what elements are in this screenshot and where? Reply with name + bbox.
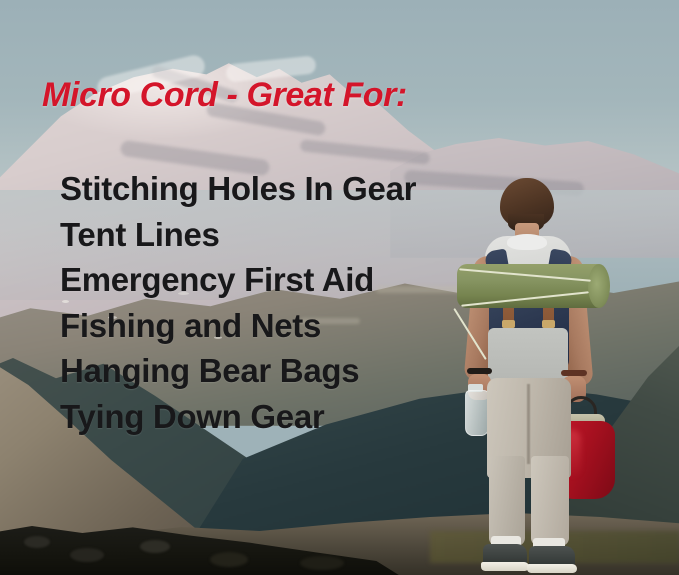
list-item: Tent Lines (60, 212, 416, 258)
boulder (140, 540, 170, 553)
sweatpants-seam (527, 384, 530, 464)
sneaker-sole-right (527, 564, 577, 573)
sneaker-sole-left (481, 562, 529, 571)
list-item: Stitching Holes In Gear (60, 166, 416, 212)
sweatpants-leg-right (531, 456, 569, 546)
sleeping-pad-end-cap (588, 264, 610, 308)
list-item: Fishing and Nets (60, 303, 416, 349)
water-bottle (465, 390, 489, 436)
wrist-band-left (467, 368, 492, 374)
boulder (300, 556, 344, 570)
sweatpants-leg-left (489, 456, 525, 546)
backpack-buckle-left (502, 320, 515, 328)
boulder (70, 548, 104, 562)
boulder (210, 552, 248, 567)
list-item: Emergency First Aid (60, 257, 416, 303)
uses-list: Stitching Holes In Gear Tent Lines Emerg… (60, 166, 416, 439)
tshirt-collar (507, 234, 547, 250)
list-item: Tying Down Gear (60, 394, 416, 440)
list-item: Hanging Bear Bags (60, 348, 416, 394)
wrist-band-right (561, 370, 587, 376)
hiker-figure (455, 178, 650, 575)
poster-title: Micro Cord - Great For: (42, 76, 407, 115)
boulder (24, 536, 50, 548)
backpack-buckle-right (542, 320, 555, 328)
product-feature-poster: Micro Cord - Great For: Stitching Holes … (0, 0, 679, 575)
